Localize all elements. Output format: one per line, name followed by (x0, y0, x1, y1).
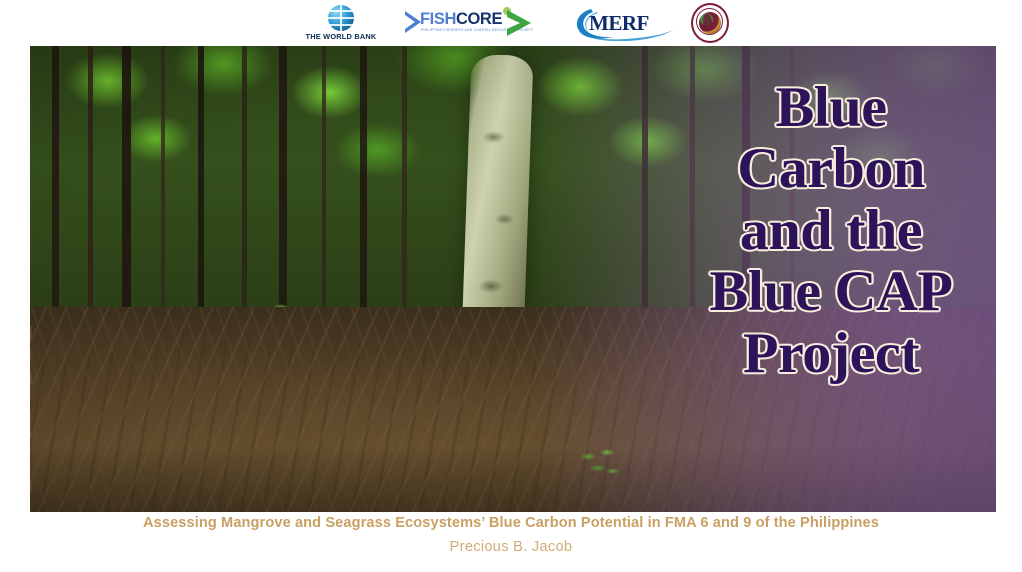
logo-merf: MERF (571, 3, 675, 43)
logo-fishcore-label-core: CORE (456, 10, 502, 28)
caption-block: Assessing Mangrove and Seagrass Ecosyste… (0, 512, 1022, 557)
logo-world-bank-label: THE WORLD BANK (306, 32, 377, 41)
university-seal-icon (691, 3, 729, 43)
logo-fishcore-wordmark: FISHCORE (420, 10, 502, 29)
globe-icon (328, 5, 354, 31)
slide-subtitle: Assessing Mangrove and Seagrass Ecosyste… (0, 514, 1022, 534)
logo-world-bank: THE WORLD BANK (293, 5, 389, 41)
seal-emblem (699, 12, 721, 34)
logo-fishcore-label-fish: FISH (420, 10, 456, 28)
hero-image (30, 46, 996, 512)
logo-university-seal (691, 4, 729, 42)
logo-bar: THE WORLD BANK FISHCORE PHILIPPINE FISHE… (0, 0, 1022, 46)
photo-vignette (30, 46, 996, 512)
logo-fishcore: FISHCORE PHILIPPINE FISHERIES AND COASTA… (405, 3, 555, 43)
mangrove-forest-photo (30, 46, 996, 512)
logo-merf-label: MERF (589, 11, 649, 36)
chevron-right-icon (505, 8, 539, 38)
presentation-slide: THE WORLD BANK FISHCORE PHILIPPINE FISHE… (0, 0, 1022, 572)
slide-author: Precious B. Jacob (0, 537, 1022, 557)
fish-arrow-icon (405, 11, 421, 33)
